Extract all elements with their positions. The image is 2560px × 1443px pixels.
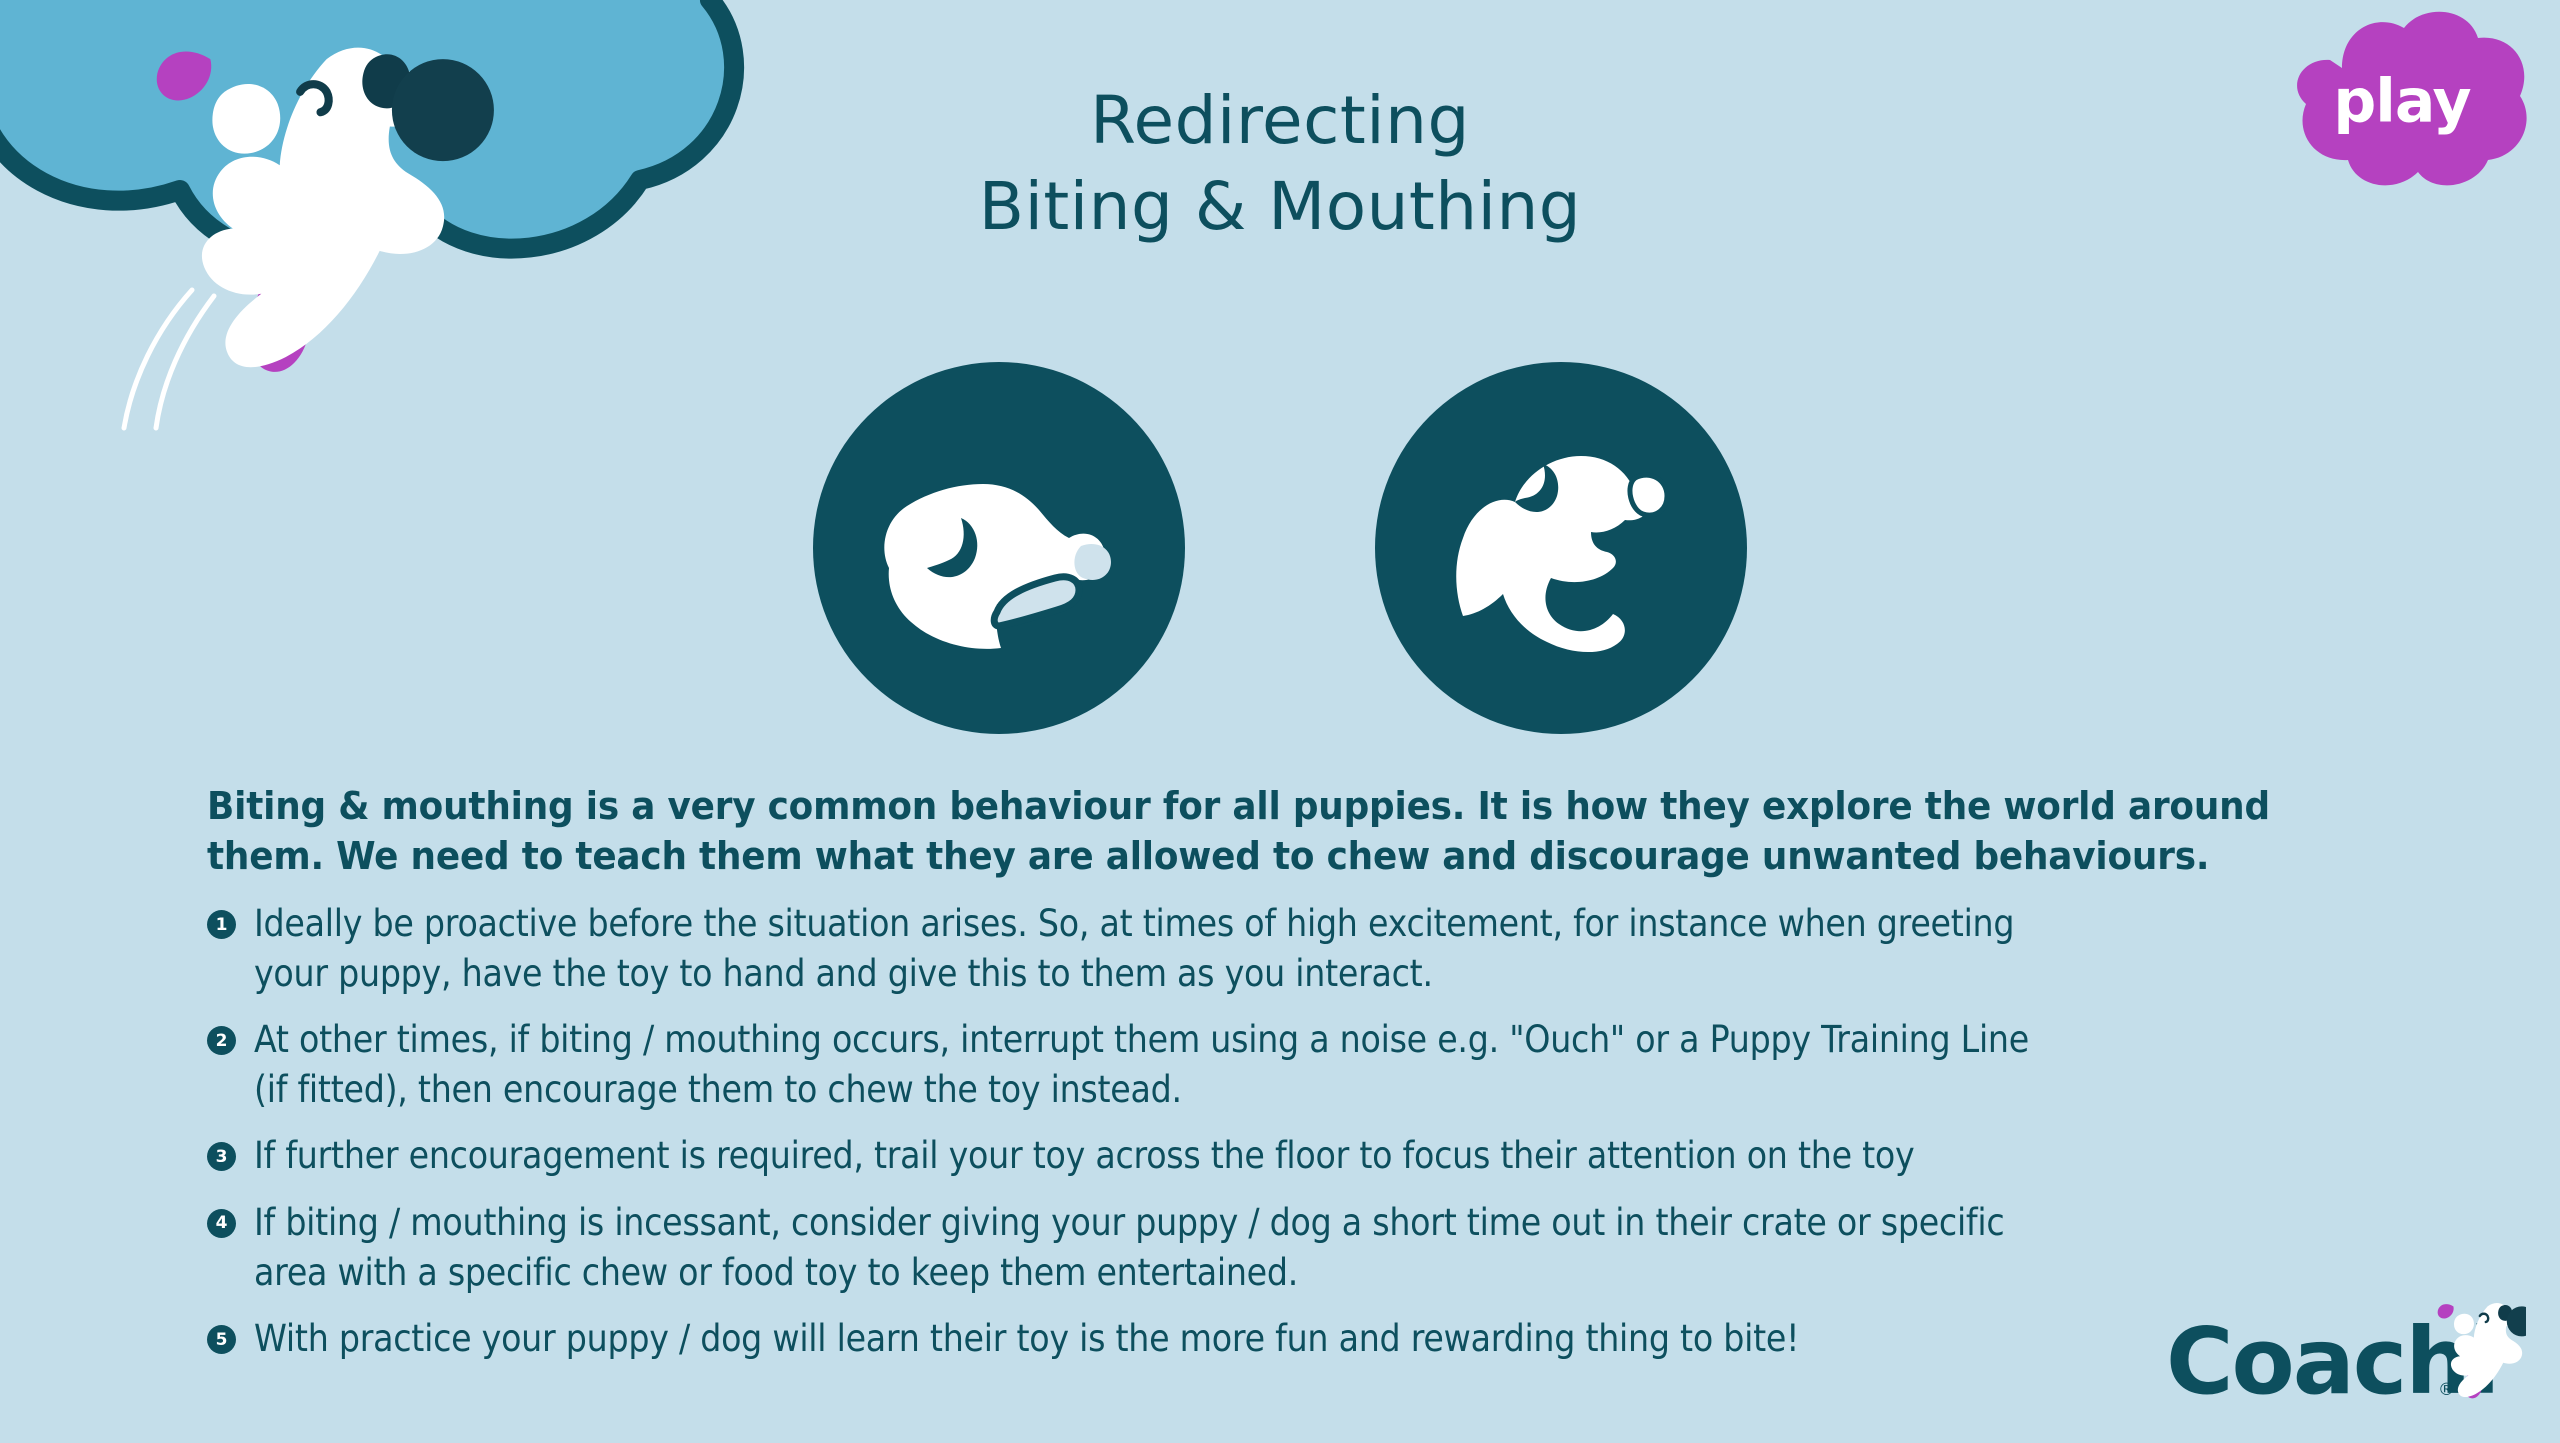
registered-mark: ® <box>2438 1380 2455 1400</box>
step-text: If further encouragement is required, tr… <box>254 1131 2183 1181</box>
step-number-badge: 5 <box>207 1325 236 1354</box>
list-item: 4 If biting / mouthing is incessant, con… <box>207 1198 2397 1297</box>
content-body: Biting & mouthing is a very common behav… <box>207 782 2397 1381</box>
step-number-badge: 4 <box>207 1209 236 1238</box>
step-text: Ideally be proactive before the situatio… <box>254 899 2183 998</box>
icon-row <box>0 362 2560 734</box>
title-line-1: Redirecting <box>0 88 2560 154</box>
intro-paragraph: Biting & mouthing is a very common behav… <box>207 782 2383 882</box>
step-text: With practice your puppy / dog will lear… <box>254 1314 2183 1364</box>
step-number-badge: 2 <box>207 1026 236 1055</box>
step-text: If biting / mouthing is incessant, consi… <box>254 1198 2183 1297</box>
list-item: 3 If further encouragement is required, … <box>207 1131 2397 1181</box>
list-item: 5 With practice your puppy / dog will le… <box>207 1314 2397 1364</box>
dog-head-with-toy-icon <box>813 362 1185 734</box>
steps-list: 1 Ideally be proactive before the situat… <box>207 899 2397 1364</box>
title-line-2: Biting & Mouthing <box>0 174 2560 240</box>
list-item: 2 At other times, if biting / mouthing o… <box>207 1015 2397 1114</box>
step-text: At other times, if biting / mouthing occ… <box>254 1015 2183 1114</box>
step-number-badge: 1 <box>207 910 236 939</box>
dog-catching-ball-icon <box>1375 362 1747 734</box>
step-number-badge: 3 <box>207 1142 236 1171</box>
coachi-logo: Coachi ® <box>2166 1291 2526 1427</box>
page-title: Redirecting Biting & Mouthing <box>0 88 2560 240</box>
list-item: 1 Ideally be proactive before the situat… <box>207 899 2397 998</box>
